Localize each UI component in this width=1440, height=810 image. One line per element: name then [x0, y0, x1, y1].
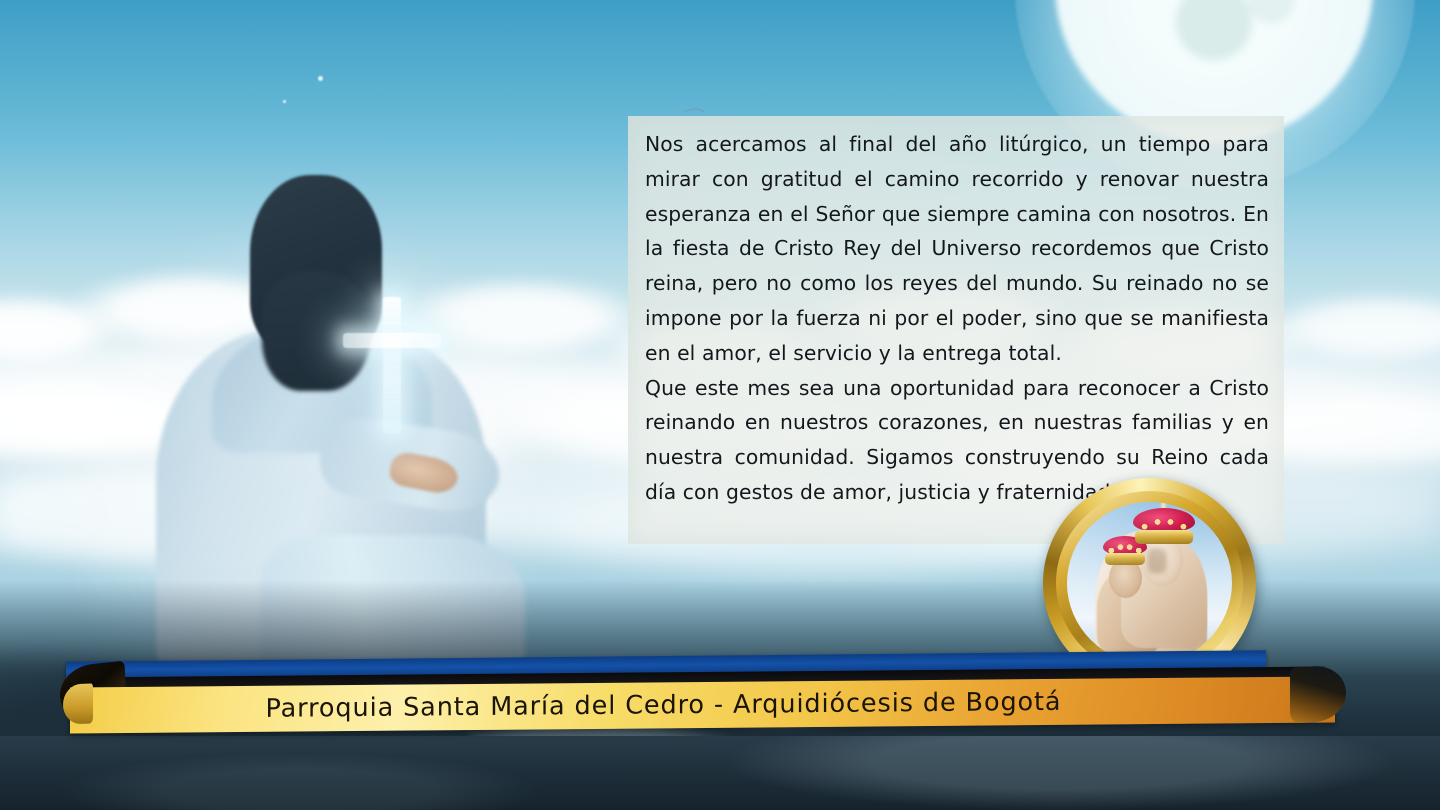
medallion-photo	[1067, 502, 1232, 664]
glowing-cross-icon	[333, 297, 451, 433]
cross-horizontal-bar	[343, 333, 441, 348]
virgin-crown-icon	[1133, 508, 1195, 546]
message-paragraph-1: Nos acercamos al final del año litúrgico…	[645, 127, 1269, 371]
crown-band	[1135, 530, 1192, 544]
crown-band	[1105, 553, 1145, 564]
cross-vertical-bar	[383, 297, 401, 433]
message-body: Nos acercamos al final del año litúrgico…	[645, 127, 1269, 510]
bottom-rock-strip	[0, 736, 1440, 810]
statue-face-shadow	[1147, 548, 1167, 574]
poster-stage: ︵ ︵ ︵ Nos acercamos al final del año lit…	[0, 0, 1440, 810]
sparkle-particle	[283, 100, 286, 103]
sparkle-particle	[318, 76, 323, 81]
